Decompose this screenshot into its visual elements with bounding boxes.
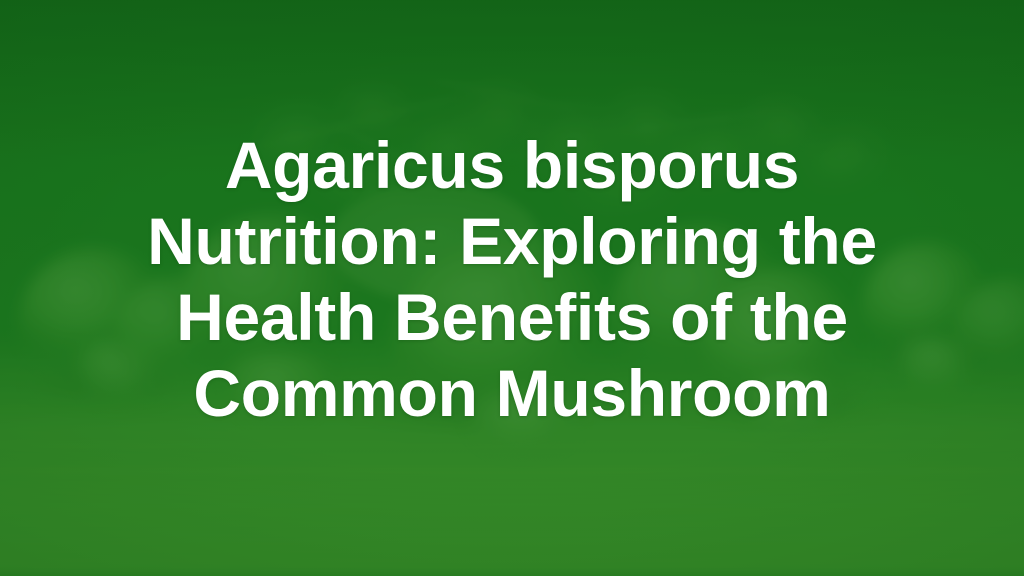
banner-title: Agaricus bisporus Nutrition: Exploring t… (0, 0, 1024, 576)
article-header-banner: Agaricus bisporus Nutrition: Exploring t… (0, 0, 1024, 576)
title-line-4: Common Mushroom (193, 355, 830, 431)
title-line-2: Nutrition: Exploring the (147, 203, 877, 279)
title-line-1: Agaricus bisporus (225, 127, 799, 203)
title-line-3: Health Benefits of the (176, 279, 848, 355)
